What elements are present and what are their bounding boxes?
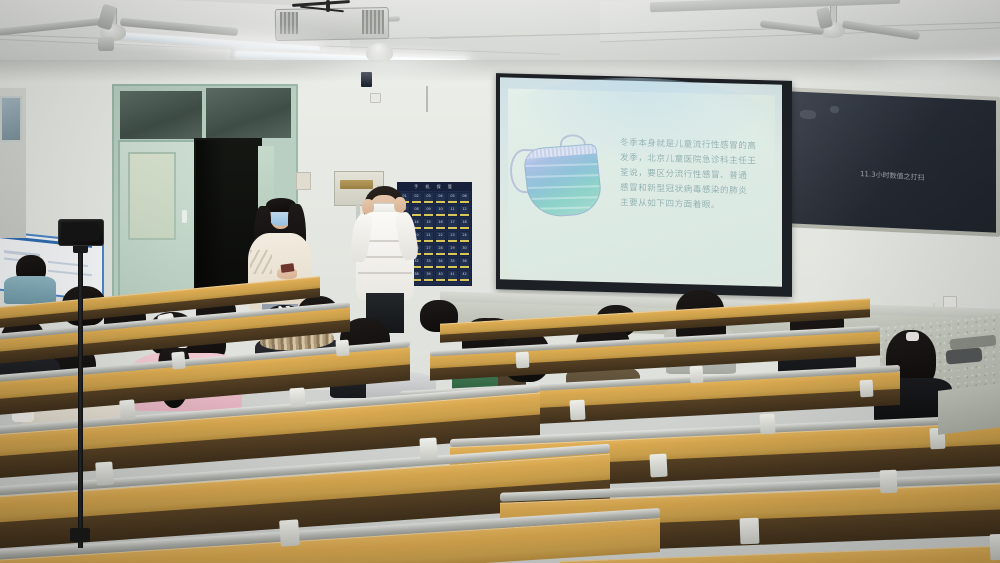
presenter-right-hand-right bbox=[394, 197, 406, 213]
pocket-chart-cell-tab bbox=[436, 253, 445, 256]
pocket-chart-cell[interactable]: 34 bbox=[435, 257, 446, 269]
pocket-chart-cell-number: 08 bbox=[412, 207, 421, 211]
pocket-chart-cell-number: 41 bbox=[448, 272, 457, 276]
slide-body-text: 冬季本身就是儿童流行性感冒的高 发季，北京儿童医院急诊科主任王 荃说，要区分流行… bbox=[620, 136, 770, 215]
pocket-chart-cell[interactable]: 40 bbox=[435, 270, 446, 282]
pocket-chart-cell-tab bbox=[460, 253, 469, 256]
hanging-cable bbox=[426, 86, 428, 112]
pocket-chart-cell-tab bbox=[460, 266, 469, 269]
pocket-chart-cell[interactable]: 04 bbox=[435, 192, 446, 204]
pocket-chart-cell-number: 06 bbox=[460, 194, 469, 198]
pocket-chart-cell[interactable]: 09 bbox=[423, 205, 434, 217]
mask-pleat-3 bbox=[528, 185, 600, 189]
pocket-chart-cell[interactable]: 42 bbox=[459, 270, 470, 282]
pocket-chart-cell-number: 18 bbox=[460, 220, 469, 224]
mask-pleat-5 bbox=[530, 206, 602, 210]
pocket-chart-cell-tab bbox=[460, 279, 469, 282]
pocket-chart-cell-number: 40 bbox=[436, 272, 445, 276]
pocket-chart-cell-tab bbox=[448, 240, 457, 243]
pocket-chart-cell[interactable]: 36 bbox=[459, 257, 470, 269]
wall-socket-left[interactable] bbox=[370, 93, 381, 103]
pocket-chart-cell[interactable]: 15 bbox=[423, 218, 434, 230]
rail-clip-14 bbox=[880, 470, 898, 494]
rail-clip-8 bbox=[569, 400, 585, 421]
pocket-chart-cell-tab bbox=[448, 279, 457, 282]
pocket-chart-cell-number: 34 bbox=[436, 259, 445, 263]
pocket-chart-cell[interactable]: 41 bbox=[447, 270, 458, 282]
pocket-chart-header-label: 手 机 保 管 bbox=[414, 184, 455, 190]
pocket-chart-cell-tab bbox=[460, 201, 469, 204]
pocket-chart-cell-tab bbox=[436, 227, 445, 230]
pocket-chart-cell[interactable]: 27 bbox=[423, 244, 434, 256]
pocket-chart-cell-tab bbox=[448, 201, 457, 204]
aisle-step-right bbox=[938, 381, 1000, 435]
pocket-chart-cell-number: 33 bbox=[424, 259, 433, 263]
rail-clip-12 bbox=[419, 438, 437, 461]
student-blue-coat bbox=[4, 276, 56, 304]
mask-pleat-2 bbox=[526, 174, 598, 178]
pocket-chart-cell[interactable]: 29 bbox=[447, 244, 458, 256]
rail-clip-5 bbox=[860, 380, 874, 398]
classroom-photo-scene: 手 机 保 管 01020304050607080910111213141516… bbox=[0, 0, 1000, 563]
rail-clip-17 bbox=[990, 534, 1000, 561]
pocket-chart-cell[interactable]: 24 bbox=[459, 231, 470, 243]
projector-vent-right bbox=[362, 10, 384, 34]
projector-mount-arm bbox=[326, 0, 330, 12]
rail-clip-4 bbox=[690, 366, 704, 384]
pocket-chart-cell-number: 21 bbox=[424, 233, 433, 237]
pocket-chart-cell-number: 02 bbox=[412, 194, 421, 198]
pocket-chart-cell[interactable]: 39 bbox=[423, 270, 434, 282]
pocket-chart-cell-number: 04 bbox=[436, 194, 445, 198]
pocket-chart-cell-number: 22 bbox=[436, 233, 445, 237]
pocket-chart-cell-tab bbox=[436, 214, 445, 217]
pocket-chart-cell-number: 05 bbox=[448, 194, 457, 198]
rail-clip-15 bbox=[279, 519, 300, 546]
pocket-chart-cell-number: 35 bbox=[448, 259, 457, 263]
pocket-chart-cell-tab bbox=[424, 266, 433, 269]
tripod-base-clamp[interactable] bbox=[70, 528, 90, 542]
pocket-chart-cell-tab bbox=[460, 214, 469, 217]
mask-pleat-1 bbox=[525, 163, 597, 167]
pocket-chart-cell-tab bbox=[424, 253, 433, 256]
control-panel-label-plate bbox=[340, 180, 373, 189]
pocket-chart-cell-tab bbox=[436, 240, 445, 243]
mask-nose-wire-strip bbox=[524, 144, 597, 159]
tripod-pole[interactable] bbox=[78, 248, 83, 548]
pocket-chart-row: 010203040506 bbox=[398, 192, 471, 204]
blackboard-glare bbox=[790, 91, 996, 232]
wall-switch-panel[interactable] bbox=[361, 72, 372, 87]
rail-clip-3 bbox=[516, 352, 530, 369]
pocket-chart-cell-tab bbox=[412, 214, 421, 217]
pocket-chart-cell-tab bbox=[424, 279, 433, 282]
pocket-chart-cell[interactable]: 22 bbox=[435, 231, 446, 243]
pocket-chart-cell-number: 30 bbox=[460, 246, 469, 250]
mask-pleat-4 bbox=[529, 196, 601, 200]
pocket-chart-cell-number: 16 bbox=[436, 220, 445, 224]
pocket-chart-cell[interactable]: 10 bbox=[435, 205, 446, 217]
door-handle[interactable] bbox=[182, 210, 187, 223]
rail-clip-7 bbox=[289, 387, 305, 407]
pocket-chart-cell-tab bbox=[424, 201, 433, 204]
mask-pleated-body bbox=[523, 143, 604, 219]
transom-window-left bbox=[118, 89, 204, 141]
pocket-chart-cell-number: 09 bbox=[424, 207, 433, 211]
pocket-chart-cell[interactable]: 30 bbox=[459, 244, 470, 256]
pocket-chart-cell-number: 28 bbox=[436, 246, 445, 250]
presenter-left-sleeve-stripes bbox=[250, 250, 272, 274]
projector-vent-left bbox=[280, 12, 298, 34]
pocket-chart-cell[interactable]: 03 bbox=[423, 192, 434, 204]
pocket-chart-cell-tab bbox=[460, 240, 469, 243]
slide-mask-illustration bbox=[508, 127, 612, 234]
rail-clip-11 bbox=[95, 461, 114, 485]
student-right-5-hairtie bbox=[906, 332, 919, 341]
pocket-chart-cell[interactable]: 35 bbox=[447, 257, 458, 269]
pocket-chart-cell[interactable]: 02 bbox=[411, 192, 422, 204]
pocket-chart-cell-number: 11 bbox=[448, 207, 457, 211]
pocket-chart-cell-number: 24 bbox=[460, 233, 469, 237]
pocket-chart-cell-tab bbox=[448, 266, 457, 269]
pocket-chart-cell[interactable]: 06 bbox=[459, 192, 470, 204]
rail-clip-1 bbox=[171, 351, 185, 369]
pocket-chart-cell-number: 03 bbox=[424, 194, 433, 198]
pocket-chart-cell-tab bbox=[448, 253, 457, 256]
pocket-chart-cell[interactable]: 05 bbox=[447, 192, 458, 204]
tripod-phone-screen bbox=[61, 222, 99, 241]
pocket-chart-cell[interactable]: 17 bbox=[447, 218, 458, 230]
pocket-chart-cell-tab bbox=[448, 227, 457, 230]
pocket-chart-cell[interactable]: 33 bbox=[423, 257, 434, 269]
rail-clip-13 bbox=[649, 454, 667, 478]
transom-window-right bbox=[204, 86, 293, 140]
pocket-chart-header: 手 机 保 管 bbox=[398, 183, 471, 191]
pocket-chart-cell-number: 23 bbox=[448, 233, 457, 237]
pocket-chart-cell[interactable]: 11 bbox=[447, 205, 458, 217]
pocket-chart-cell[interactable]: 08 bbox=[411, 205, 422, 217]
left-window-frame bbox=[0, 96, 22, 142]
pocket-chart-cell-number: 12 bbox=[460, 207, 469, 211]
pocket-chart-cell[interactable]: 16 bbox=[435, 218, 446, 230]
pocket-chart-cell-number: 36 bbox=[460, 259, 469, 263]
pocket-chart-cell-number: 42 bbox=[460, 272, 469, 276]
pocket-chart-cell-tab bbox=[424, 240, 433, 243]
pocket-chart-cell-tab bbox=[424, 214, 433, 217]
rail-clip-16 bbox=[740, 518, 760, 545]
pocket-chart-cell-number: 27 bbox=[424, 246, 433, 250]
pocket-chart-cell[interactable]: 18 bbox=[459, 218, 470, 230]
pocket-chart-cell-tab bbox=[436, 266, 445, 269]
pocket-chart-cell[interactable]: 28 bbox=[435, 244, 446, 256]
pocket-chart-cell-tab bbox=[412, 201, 421, 204]
pocket-chart-cell[interactable]: 12 bbox=[459, 205, 470, 217]
pocket-chart-cell-tab bbox=[436, 201, 445, 204]
pocket-chart-cell[interactable]: 23 bbox=[447, 231, 458, 243]
pocket-chart-cell-number: 29 bbox=[448, 246, 457, 250]
pocket-chart-cell-tab bbox=[424, 227, 433, 230]
pocket-chart-cell-tab bbox=[436, 279, 445, 282]
presenter-right-puffer-seam-3 bbox=[358, 272, 412, 274]
rail-clip-2 bbox=[335, 340, 349, 357]
pocket-chart-cell-tab bbox=[448, 214, 457, 217]
pocket-chart-cell-number: 15 bbox=[424, 220, 433, 224]
pocket-chart-cell-tab bbox=[460, 227, 469, 230]
ceiling-fan-left-blade-4 bbox=[98, 37, 114, 51]
rail-clip-9 bbox=[759, 414, 775, 435]
wall-plate-small bbox=[296, 172, 311, 190]
pocket-chart-cell-number: 17 bbox=[448, 220, 457, 224]
rail-clip-6 bbox=[119, 399, 136, 420]
pocket-chart-cell-number: 10 bbox=[436, 207, 445, 211]
door-glass-panel bbox=[128, 152, 176, 240]
doorway-inner-shadow bbox=[196, 140, 226, 298]
pocket-chart-cell-number: 39 bbox=[424, 272, 433, 276]
pocket-chart-cell[interactable]: 21 bbox=[423, 231, 434, 243]
